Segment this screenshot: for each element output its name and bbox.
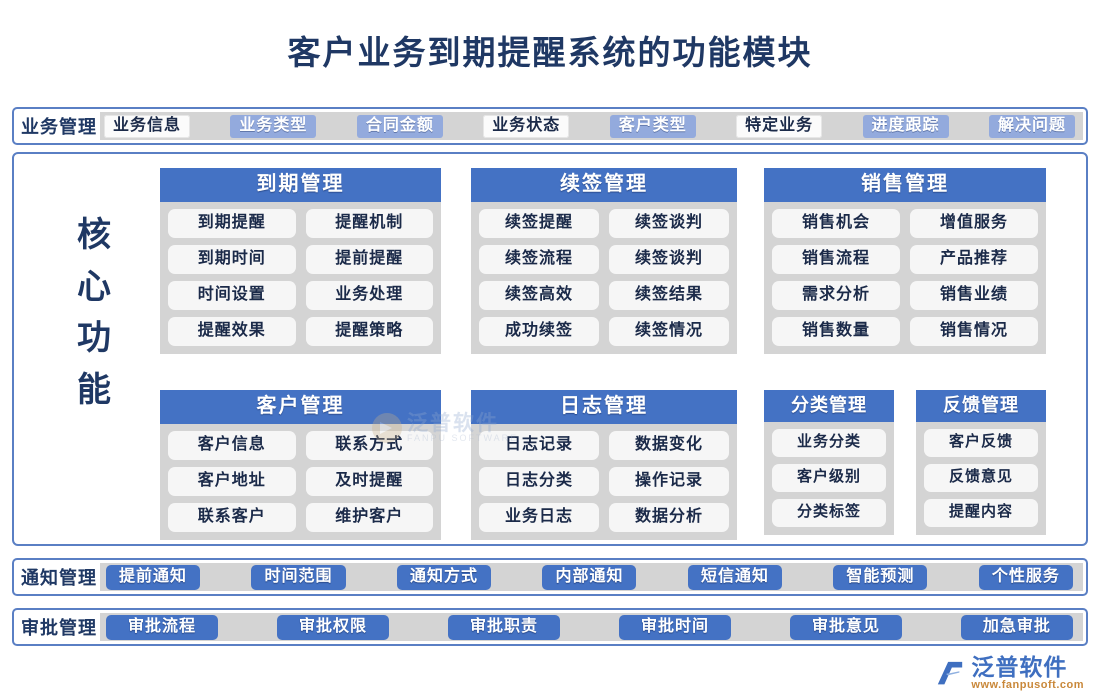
approval-tag-track: 审批流程 审批权限 审批职责 审批时间 审批意见 加急审批	[100, 613, 1083, 641]
notify-tag-2[interactable]: 通知方式	[397, 565, 491, 590]
notify-tag-3[interactable]: 内部通知	[542, 565, 636, 590]
module-feedback-title: 反馈管理	[916, 390, 1046, 422]
chip-sales-0[interactable]: 销售机会	[772, 209, 900, 238]
notify-tag-5[interactable]: 智能预测	[833, 565, 927, 590]
business-tag-2[interactable]: 合同金额	[357, 115, 443, 138]
chip-customer-0[interactable]: 客户信息	[168, 431, 296, 460]
chip-log-4[interactable]: 业务日志	[479, 503, 599, 532]
approval-tag-3[interactable]: 审批时间	[619, 615, 731, 640]
brand-logo-name: 泛普软件	[971, 656, 1084, 680]
chip-category-0[interactable]: 业务分类	[772, 429, 886, 457]
approval-tag-2[interactable]: 审批职责	[448, 615, 560, 640]
notify-tag-1[interactable]: 时间范围	[251, 565, 345, 590]
brand-logo: 泛普软件 www.fanpusoft.com	[935, 656, 1084, 692]
core-label-char-1: 心	[40, 262, 150, 314]
business-band-label: 业务管理	[17, 113, 100, 139]
business-tag-5[interactable]: 特定业务	[736, 115, 822, 138]
module-renewal-management: 续签管理 续签提醒 续签谈判 续签流程 续签谈判 续签高效 续签结果 成功续签 …	[471, 168, 737, 354]
chip-sales-5[interactable]: 销售业绩	[910, 281, 1038, 310]
chip-feedback-2[interactable]: 提醒内容	[924, 499, 1038, 527]
module-sales-management: 销售管理 销售机会 增值服务 销售流程 产品推荐 需求分析 销售业绩 销售数量 …	[764, 168, 1046, 354]
chip-log-3[interactable]: 操作记录	[609, 467, 729, 496]
chip-customer-3[interactable]: 及时提醒	[306, 467, 434, 496]
approval-tag-5[interactable]: 加急审批	[961, 615, 1073, 640]
chip-customer-2[interactable]: 客户地址	[168, 467, 296, 496]
chip-expiry-3[interactable]: 提前提醒	[306, 245, 434, 274]
chip-renew-6[interactable]: 成功续签	[479, 317, 599, 346]
chip-category-1[interactable]: 客户级别	[772, 464, 886, 492]
module-category-management: 分类管理 业务分类 客户级别 分类标签	[764, 390, 894, 535]
chip-log-5[interactable]: 数据分析	[609, 503, 729, 532]
core-functions-panel: 核 心 功 能 到期管理 到期提醒 提醒机制 到期时间 提前提醒 时间设置 业务…	[12, 152, 1088, 546]
chip-renew-5[interactable]: 续签结果	[609, 281, 729, 310]
chip-log-0[interactable]: 日志记录	[479, 431, 599, 460]
chip-feedback-1[interactable]: 反馈意见	[924, 464, 1038, 492]
chip-renew-2[interactable]: 续签流程	[479, 245, 599, 274]
module-sales-title: 销售管理	[764, 168, 1046, 202]
chip-renew-0[interactable]: 续签提醒	[479, 209, 599, 238]
core-label-char-3: 能	[40, 365, 150, 417]
business-tag-0[interactable]: 业务信息	[104, 115, 190, 138]
fanpu-logo-icon	[935, 659, 965, 689]
brand-logo-url: www.fanpusoft.com	[971, 680, 1084, 692]
core-functions-label: 核 心 功 能	[40, 210, 150, 417]
notify-tag-6[interactable]: 个性服务	[979, 565, 1073, 590]
module-customer-management: 客户管理 客户信息 联系方式 客户地址 及时提醒 联系客户 维护客户	[160, 390, 441, 540]
notify-tag-4[interactable]: 短信通知	[688, 565, 782, 590]
business-tag-3[interactable]: 业务状态	[483, 115, 569, 138]
chip-renew-7[interactable]: 续签情况	[609, 317, 729, 346]
module-grid: 到期管理 到期提醒 提醒机制 到期时间 提前提醒 时间设置 业务处理 提醒效果 …	[150, 162, 1090, 540]
module-log-items: 日志记录 数据变化 日志分类 操作记录 业务日志 数据分析	[471, 424, 737, 540]
chip-customer-5[interactable]: 维护客户	[306, 503, 434, 532]
chip-expiry-4[interactable]: 时间设置	[168, 281, 296, 310]
chip-sales-1[interactable]: 增值服务	[910, 209, 1038, 238]
core-label-char-2: 功	[40, 313, 150, 365]
chip-expiry-5[interactable]: 业务处理	[306, 281, 434, 310]
chip-sales-6[interactable]: 销售数量	[772, 317, 900, 346]
module-customer-title: 客户管理	[160, 390, 441, 424]
chip-category-2[interactable]: 分类标签	[772, 499, 886, 527]
chip-renew-3[interactable]: 续签谈判	[609, 245, 729, 274]
notify-tag-track: 提前通知 时间范围 通知方式 内部通知 短信通知 智能预测 个性服务	[100, 563, 1083, 591]
chip-expiry-1[interactable]: 提醒机制	[306, 209, 434, 238]
approval-band-label: 审批管理	[17, 614, 100, 640]
chip-feedback-0[interactable]: 客户反馈	[924, 429, 1038, 457]
notify-band-label: 通知管理	[17, 564, 100, 590]
module-expiry-title: 到期管理	[160, 168, 441, 202]
module-customer-items: 客户信息 联系方式 客户地址 及时提醒 联系客户 维护客户	[160, 424, 441, 540]
chip-expiry-0[interactable]: 到期提醒	[168, 209, 296, 238]
module-expiry-items: 到期提醒 提醒机制 到期时间 提前提醒 时间设置 业务处理 提醒效果 提醒策略	[160, 202, 441, 354]
module-log-title: 日志管理	[471, 390, 737, 424]
notification-management-band: 通知管理 提前通知 时间范围 通知方式 内部通知 短信通知 智能预测 个性服务	[12, 558, 1088, 596]
chip-expiry-7[interactable]: 提醒策略	[306, 317, 434, 346]
notify-tag-0[interactable]: 提前通知	[106, 565, 200, 590]
module-renew-title: 续签管理	[471, 168, 737, 202]
business-tag-6[interactable]: 进度跟踪	[863, 115, 949, 138]
chip-customer-4[interactable]: 联系客户	[168, 503, 296, 532]
chip-expiry-2[interactable]: 到期时间	[168, 245, 296, 274]
business-tag-4[interactable]: 客户类型	[610, 115, 696, 138]
module-expiry-management: 到期管理 到期提醒 提醒机制 到期时间 提前提醒 时间设置 业务处理 提醒效果 …	[160, 168, 441, 354]
approval-tag-4[interactable]: 审批意见	[790, 615, 902, 640]
chip-sales-4[interactable]: 需求分析	[772, 281, 900, 310]
module-category-title: 分类管理	[764, 390, 894, 422]
chip-log-1[interactable]: 数据变化	[609, 431, 729, 460]
chip-renew-1[interactable]: 续签谈判	[609, 209, 729, 238]
core-label-char-0: 核	[40, 210, 150, 262]
module-category-items: 业务分类 客户级别 分类标签	[764, 422, 894, 535]
module-feedback-items: 客户反馈 反馈意见 提醒内容	[916, 422, 1046, 535]
chip-log-2[interactable]: 日志分类	[479, 467, 599, 496]
chip-customer-1[interactable]: 联系方式	[306, 431, 434, 460]
approval-tag-1[interactable]: 审批权限	[277, 615, 389, 640]
chip-renew-4[interactable]: 续签高效	[479, 281, 599, 310]
chip-sales-2[interactable]: 销售流程	[772, 245, 900, 274]
module-log-management: 日志管理 日志记录 数据变化 日志分类 操作记录 业务日志 数据分析	[471, 390, 737, 540]
module-sales-items: 销售机会 增值服务 销售流程 产品推荐 需求分析 销售业绩 销售数量 销售情况	[764, 202, 1046, 354]
approval-management-band: 审批管理 审批流程 审批权限 审批职责 审批时间 审批意见 加急审批	[12, 608, 1088, 646]
business-management-band: 业务管理 业务信息 业务类型 合同金额 业务状态 客户类型 特定业务 进度跟踪 …	[12, 107, 1088, 145]
business-tag-1[interactable]: 业务类型	[230, 115, 316, 138]
chip-expiry-6[interactable]: 提醒效果	[168, 317, 296, 346]
chip-sales-3[interactable]: 产品推荐	[910, 245, 1038, 274]
business-tag-7[interactable]: 解决问题	[989, 115, 1075, 138]
page-title: 客户业务到期提醒系统的功能模块	[0, 26, 1100, 74]
chip-sales-7[interactable]: 销售情况	[910, 317, 1038, 346]
module-renew-items: 续签提醒 续签谈判 续签流程 续签谈判 续签高效 续签结果 成功续签 续签情况	[471, 202, 737, 354]
module-feedback-management: 反馈管理 客户反馈 反馈意见 提醒内容	[916, 390, 1046, 535]
approval-tag-0[interactable]: 审批流程	[106, 615, 218, 640]
business-tag-track: 业务信息 业务类型 合同金额 业务状态 客户类型 特定业务 进度跟踪 解决问题	[100, 112, 1083, 140]
